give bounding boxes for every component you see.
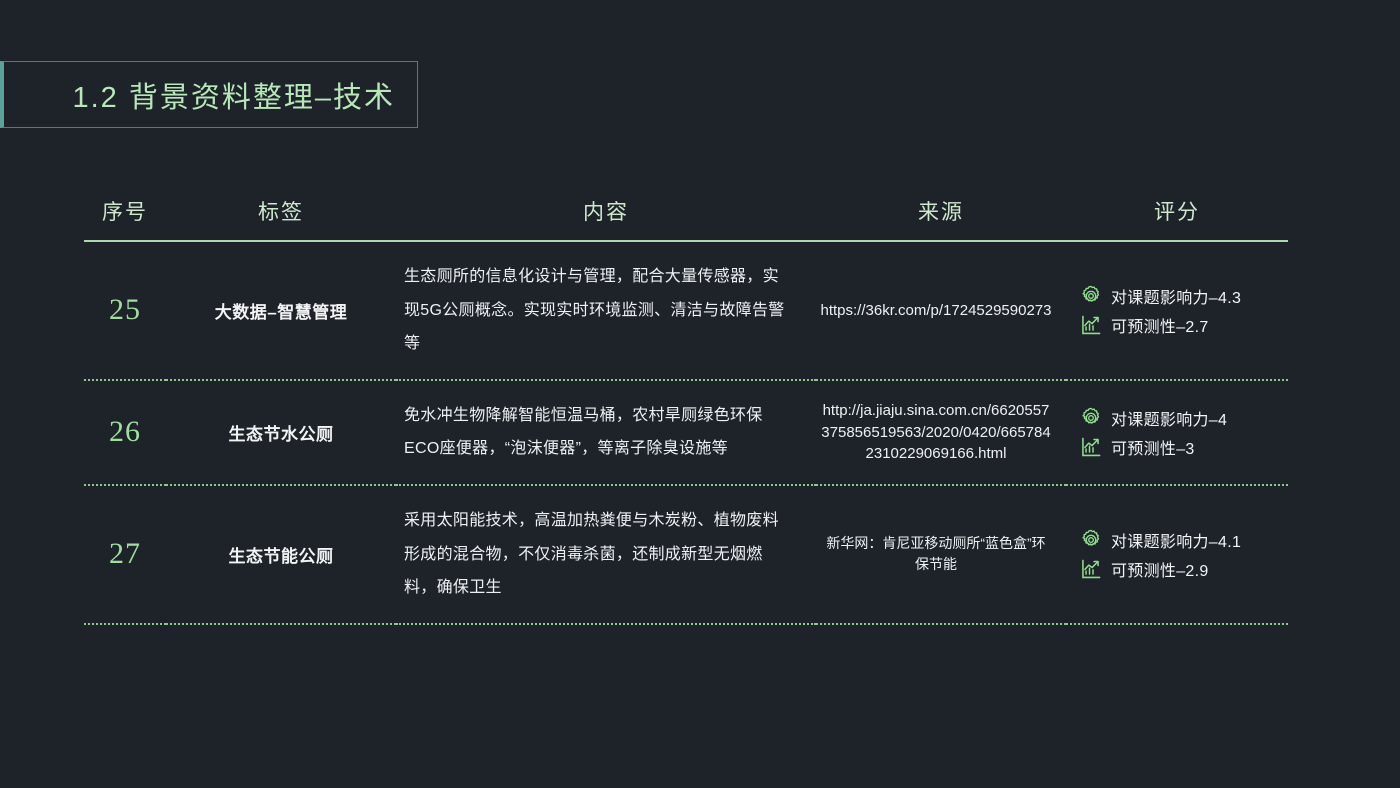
score-list: 对课题影响力–4.1可预测性–2.9 (1066, 528, 1288, 581)
score-item: 可预测性–3 (1080, 435, 1288, 459)
gear-icon (1080, 407, 1102, 429)
table-header: 序号 标签 内容 来源 评分 (84, 196, 1288, 241)
column-header-source: 来源 (816, 196, 1066, 241)
table-row: 25大数据–智慧管理生态厕所的信息化设计与管理，配合大量传感器，实现5G公厕概念… (84, 241, 1288, 380)
score-item: 可预测性–2.9 (1080, 557, 1288, 581)
score-label: 可预测性–2.7 (1111, 313, 1209, 337)
column-header-tag: 标签 (166, 196, 396, 241)
row-score-cell: 对课题影响力–4.3可预测性–2.7 (1066, 241, 1288, 380)
score-list: 对课题影响力–4可预测性–3 (1066, 406, 1288, 459)
row-index: 26 (84, 380, 166, 485)
score-item: 可预测性–2.7 (1080, 313, 1288, 337)
background-research-table: 序号 标签 内容 来源 评分 25大数据–智慧管理生态厕所的信息化设计与管理，配… (84, 196, 1288, 625)
row-source-url[interactable]: http://ja.jiaju.sina.com.cn/662055737585… (816, 380, 1066, 485)
score-label: 可预测性–3 (1111, 435, 1195, 459)
row-content: 采用太阳能技术，高温加热粪便与木炭粉、植物废料形成的混合物，不仅消毒杀菌，还制成… (396, 485, 816, 624)
table-header-row: 序号 标签 内容 来源 评分 (84, 196, 1288, 241)
gear-icon (1080, 529, 1102, 551)
row-tag: 大数据–智慧管理 (166, 241, 396, 380)
row-source-url[interactable]: https://36kr.com/p/1724529590273 (816, 241, 1066, 380)
score-item: 对课题影响力–4 (1080, 406, 1288, 430)
row-source-text: 新华网：肯尼亚移动厕所“蓝色盒”环保节能 (816, 485, 1066, 624)
table-row: 26生态节水公厕免水冲生物降解智能恒温马桶，农村旱厕绿色环保ECO座便器，“泡沫… (84, 380, 1288, 485)
row-index: 27 (84, 485, 166, 624)
score-label: 对课题影响力–4.3 (1111, 284, 1241, 308)
column-header-score: 评分 (1066, 196, 1288, 241)
row-content: 生态厕所的信息化设计与管理，配合大量传感器，实现5G公厕概念。实现实时环境监测、… (396, 241, 816, 380)
row-content: 免水冲生物降解智能恒温马桶，农村旱厕绿色环保ECO座便器，“泡沫便器”，等离子除… (396, 380, 816, 485)
chart-trend-icon (1080, 314, 1102, 336)
gear-icon (1080, 285, 1102, 307)
data-table: 序号 标签 内容 来源 评分 25大数据–智慧管理生态厕所的信息化设计与管理，配… (84, 196, 1288, 625)
score-label: 可预测性–2.9 (1111, 557, 1209, 581)
row-tag: 生态节能公厕 (166, 485, 396, 624)
score-item: 对课题影响力–4.1 (1080, 528, 1288, 552)
row-score-cell: 对课题影响力–4可预测性–3 (1066, 380, 1288, 485)
column-header-content: 内容 (396, 196, 816, 241)
chart-trend-icon (1080, 436, 1102, 458)
row-tag: 生态节水公厕 (166, 380, 396, 485)
score-label: 对课题影响力–4 (1111, 406, 1227, 430)
score-list: 对课题影响力–4.3可预测性–2.7 (1066, 284, 1288, 337)
table-body: 25大数据–智慧管理生态厕所的信息化设计与管理，配合大量传感器，实现5G公厕概念… (84, 241, 1288, 624)
column-header-index: 序号 (84, 196, 166, 241)
score-label: 对课题影响力–4.1 (1111, 528, 1241, 552)
row-index: 25 (84, 241, 166, 380)
score-item: 对课题影响力–4.3 (1080, 284, 1288, 308)
table-row: 27生态节能公厕采用太阳能技术，高温加热粪便与木炭粉、植物废料形成的混合物，不仅… (84, 485, 1288, 624)
page-title: 1.2 背景资料整理–技术 (73, 74, 396, 116)
chart-trend-icon (1080, 558, 1102, 580)
slide-title-box: 1.2 背景资料整理–技术 (0, 61, 418, 128)
row-score-cell: 对课题影响力–4.1可预测性–2.9 (1066, 485, 1288, 624)
